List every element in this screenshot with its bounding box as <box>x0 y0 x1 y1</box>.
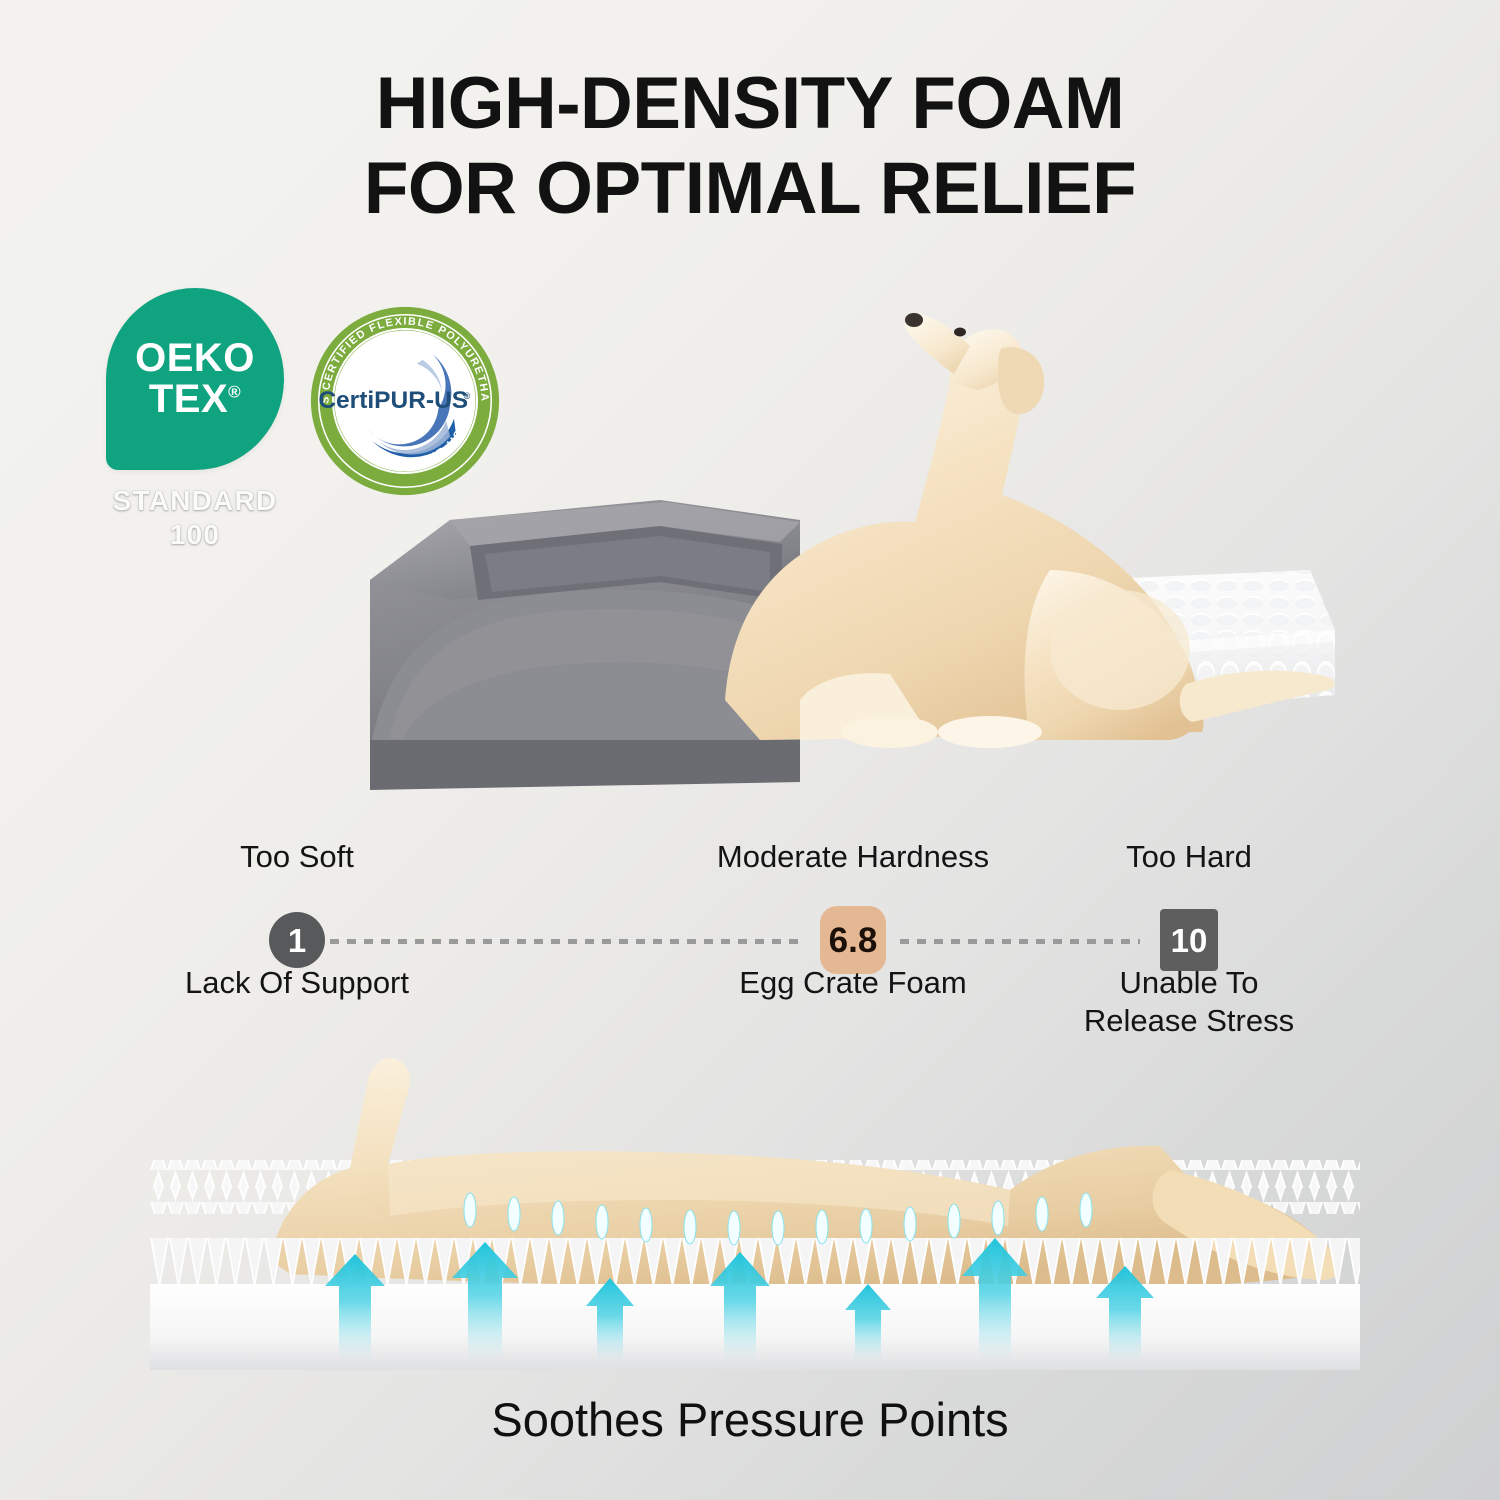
headline-line-2: FOR OPTIMAL RELIEF <box>0 147 1500 232</box>
page-title: HIGH-DENSITY FOAM FOR OPTIMAL RELIEF <box>0 62 1500 231</box>
hero-product-image <box>330 270 1340 810</box>
firmness-scale: 1 6.8 10 Too Soft Moderate Hardness Too … <box>0 838 1500 1038</box>
scale-connector-right <box>900 939 1140 944</box>
scale-marker-too-soft: 1 <box>269 912 325 968</box>
dog-on-bed-illustration <box>330 270 1340 810</box>
scale-top-label-too-soft: Too Soft <box>147 838 447 876</box>
bottom-caption: Soothes Pressure Points <box>0 1392 1500 1447</box>
scale-marker-too-hard: 10 <box>1160 909 1218 971</box>
oeko-tex-standard-label: STANDARD 100 <box>84 484 306 552</box>
oeko-tex-line-2: TEX® <box>149 379 241 420</box>
headline-line-1: HIGH-DENSITY FOAM <box>0 62 1500 147</box>
pressure-points-illustration <box>150 1040 1360 1385</box>
scale-marker-value-10: 10 <box>1171 924 1208 957</box>
scale-marker-value-1: 1 <box>288 924 306 957</box>
scale-bottom-label-lack-of-support: Lack Of Support <box>147 964 447 1002</box>
oeko-tex-line-1: OEKO <box>135 338 255 379</box>
scale-bottom-label-unable-to-release-stress: Unable To Release Stress <box>1039 964 1339 1040</box>
scale-top-label-moderate: Moderate Hardness <box>703 838 1003 876</box>
pressure-relief-image <box>150 1040 1360 1385</box>
scale-bottom-label-egg-crate-foam: Egg Crate Foam <box>703 964 1003 1002</box>
scale-top-label-too-hard: Too Hard <box>1039 838 1339 876</box>
scale-connector-left <box>330 939 800 944</box>
oeko-tex-badge: OEKO TEX® STANDARD 100 <box>106 288 284 470</box>
scale-track: 1 6.8 10 <box>0 910 1500 970</box>
oeko-tex-droplet: OEKO TEX® <box>106 288 284 470</box>
scale-marker-value-68: 6.8 <box>829 923 878 958</box>
